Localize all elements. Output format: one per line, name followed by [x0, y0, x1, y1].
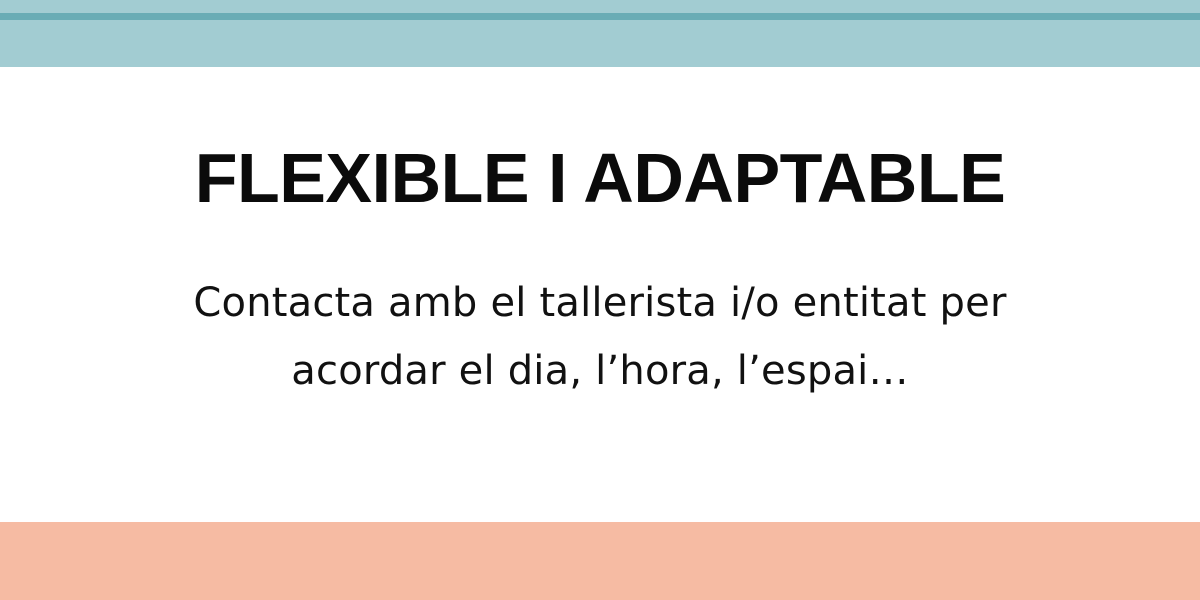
- body-text-line-1: Contacta amb el tallerista i/o entitat p…: [135, 269, 1065, 337]
- page-title: FLEXIBLE I ADAPTABLE: [50, 141, 1150, 215]
- bottom-decorative-band: [0, 522, 1200, 600]
- body-text-line-2: acordar el dia, l’hora, l’espai…: [135, 337, 1065, 405]
- slide-content: FLEXIBLE I ADAPTABLE Contacta amb el tal…: [0, 67, 1200, 522]
- slide-canvas: FLEXIBLE I ADAPTABLE Contacta amb el tal…: [0, 0, 1200, 600]
- top-decorative-band: [0, 0, 1200, 67]
- top-accent-stripe: [0, 13, 1200, 20]
- body-text: Contacta amb el tallerista i/o entitat p…: [135, 269, 1065, 405]
